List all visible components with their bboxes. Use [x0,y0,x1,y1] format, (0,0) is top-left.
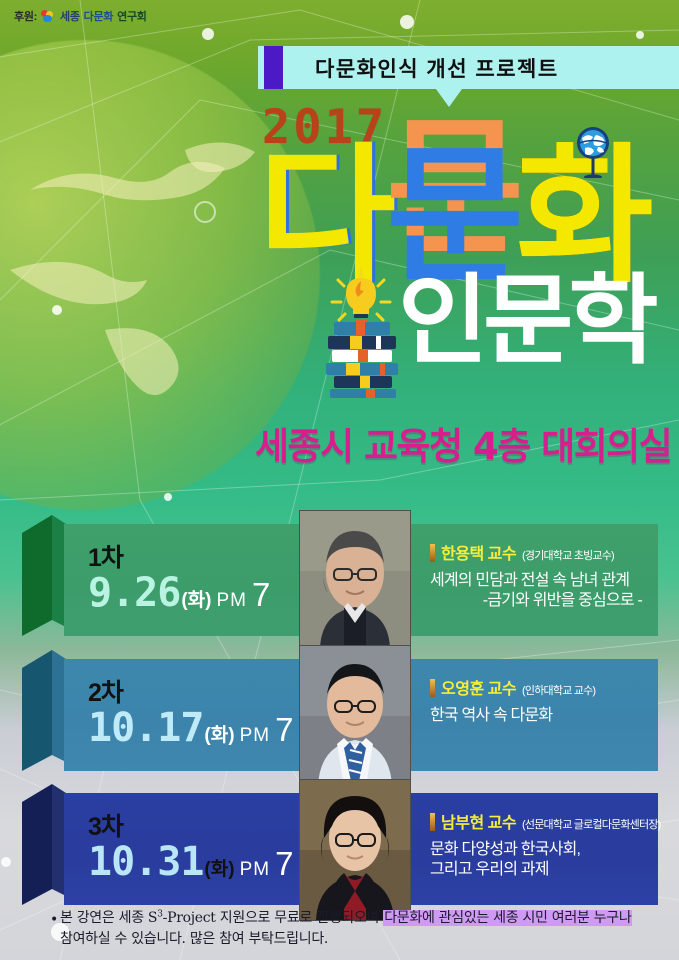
sponsor-org-b: 다문화 [84,8,113,24]
speaker-affiliation-2: (인하대학교 교수) [522,682,595,698]
session-row-2: 2차 10.17 (화) PM 7 [22,659,658,771]
header-banner: 다문화인식 개선 프로젝트 [258,46,679,89]
book-stack-icon [320,318,404,398]
session-meridiem-1: PM [216,590,247,612]
footer-note: •본 강연은 세종 S3-Project 지원으로 무료로 진행되오며 다문화에… [60,908,635,950]
session-hour-2: 7 [275,711,293,749]
speaker-name-3: 남부현 교수 [441,809,516,833]
session-schedule-1: 1차 9.26 (화) PM 7 [64,524,300,636]
speaker-marker-icon-2 [430,679,435,697]
talk-title-line2-1: -금기와 위반을 중심으로 - [430,591,652,611]
session-hour-1: 7 [252,576,270,614]
session-fold-graphic-2 [22,650,66,771]
session-row-1: 1차 9.26 (화) PM 7 [22,524,658,636]
speaker-marker-icon-1 [430,544,435,562]
session-schedule-3: 3차 10.31 (화) PM 7 [64,793,300,905]
globe-icon [572,126,614,178]
talk-title-line1-1: 세계의 민담과 전설 속 남녀 관계 [430,571,652,591]
session-fold-graphic-1 [22,515,66,636]
sponsor-credit: 후원: 세종 다문화 연구회 [14,8,147,24]
speaker-name-2: 오영훈 교수 [441,675,516,699]
session-date-number-3: 10.31 [88,842,203,882]
speaker-affiliation-3: (선문대학교 글로컬다문화센터장) [522,816,660,832]
session-fold-graphic-3 [22,784,66,905]
three-dots-logo-icon [41,10,56,23]
sponsor-prefix: 후원: [14,8,37,24]
speaker-photo-1 [299,510,411,652]
talk-title-line2-3: 그리고 우리의 과제 [430,860,652,880]
talk-title-line1-3: 문화 다양성과 한국사회, [430,840,652,860]
footer-seg3: 참여하실 수 있습니다. 많은 참여 부탁드립니다. [60,931,328,947]
banner-title: 다문화인식 개선 프로젝트 [315,53,559,83]
subtitle-heading: 인문학 [398,272,653,370]
talk-title-line1-2: 한국 역사 속 다문화 [430,706,652,726]
footer-highlight: 다문화에 관심있는 세종 시민 여러분 누구나 [383,910,632,926]
session-date-number-2: 10.17 [88,708,203,748]
speaker-photo-2 [299,645,411,787]
speaker-name-1: 한용택 교수 [441,540,516,564]
footer-bullet: • [50,910,58,931]
session-meridiem-3: PM [240,859,271,881]
session-number-2: 2차 [88,681,300,706]
session-schedule-2: 2차 10.17 (화) PM 7 [64,659,300,771]
talk-title-3: 문화 다양성과 한국사회, 그리고 우리의 과제 [430,840,652,880]
session-weekday-2: (화) [204,720,234,747]
talk-title-1: 세계의 민담과 전설 속 남녀 관계 -금기와 위반을 중심으로 - [430,571,652,611]
session-details-2: 오영훈 교수 (인하대학교 교수) 한국 역사 속 다문화 [414,659,658,771]
session-weekday-3: (화) [204,854,234,881]
footer-seg2: -Project 지원으로 무료로 진행되오며 [163,910,384,926]
sponsor-org-a: 세종 [60,8,80,24]
banner-accent-bar [264,46,283,89]
session-meridiem-2: PM [240,725,271,747]
session-details-1: 한용택 교수 (경기대학교 초빙교수) 세계의 민담과 전설 속 남녀 관계 -… [414,524,658,636]
session-number-3: 3차 [88,815,300,840]
session-date-3: 10.31 (화) PM 7 [88,842,300,883]
speaker-affiliation-1: (경기대학교 초빙교수) [522,547,614,563]
header-banner-body: 다문화인식 개선 프로젝트 [258,46,679,89]
session-hour-3: 7 [275,845,293,883]
session-details-3: 남부현 교수 (선문대학교 글로컬다문화센터장) 문화 다양성과 한국사회, 그… [414,793,658,905]
talk-title-2: 한국 역사 속 다문화 [430,706,652,726]
footer-seg1: 본 강연은 세종 S [60,910,157,926]
poster-root: 후원: 세종 다문화 연구회 다문화인식 개선 프로젝트 2017 다 문 화 [0,0,679,960]
session-number-1: 1차 [88,546,300,571]
session-date-2: 10.17 (화) PM 7 [88,708,300,749]
venue-text: 세종시 교육청 4층 대회의실 [255,416,665,470]
speaker-line-1: 한용택 교수 (경기대학교 초빙교수) [430,540,652,564]
session-date-1: 9.26 (화) PM 7 [88,573,300,614]
speaker-line-2: 오영훈 교수 (인하대학교 교수) [430,675,652,699]
speaker-line-3: 남부현 교수 (선문대학교 글로컬다문화센터장) [430,809,652,833]
speaker-marker-icon-3 [430,813,435,831]
session-row-3: 3차 10.31 (화) PM 7 [22,793,658,905]
sponsor-org-c: 연구회 [117,8,146,24]
speaker-photo-3 [299,779,411,921]
banner-pointer [436,89,462,107]
session-date-number-1: 9.26 [88,573,180,613]
session-weekday-1: (화) [181,585,211,612]
